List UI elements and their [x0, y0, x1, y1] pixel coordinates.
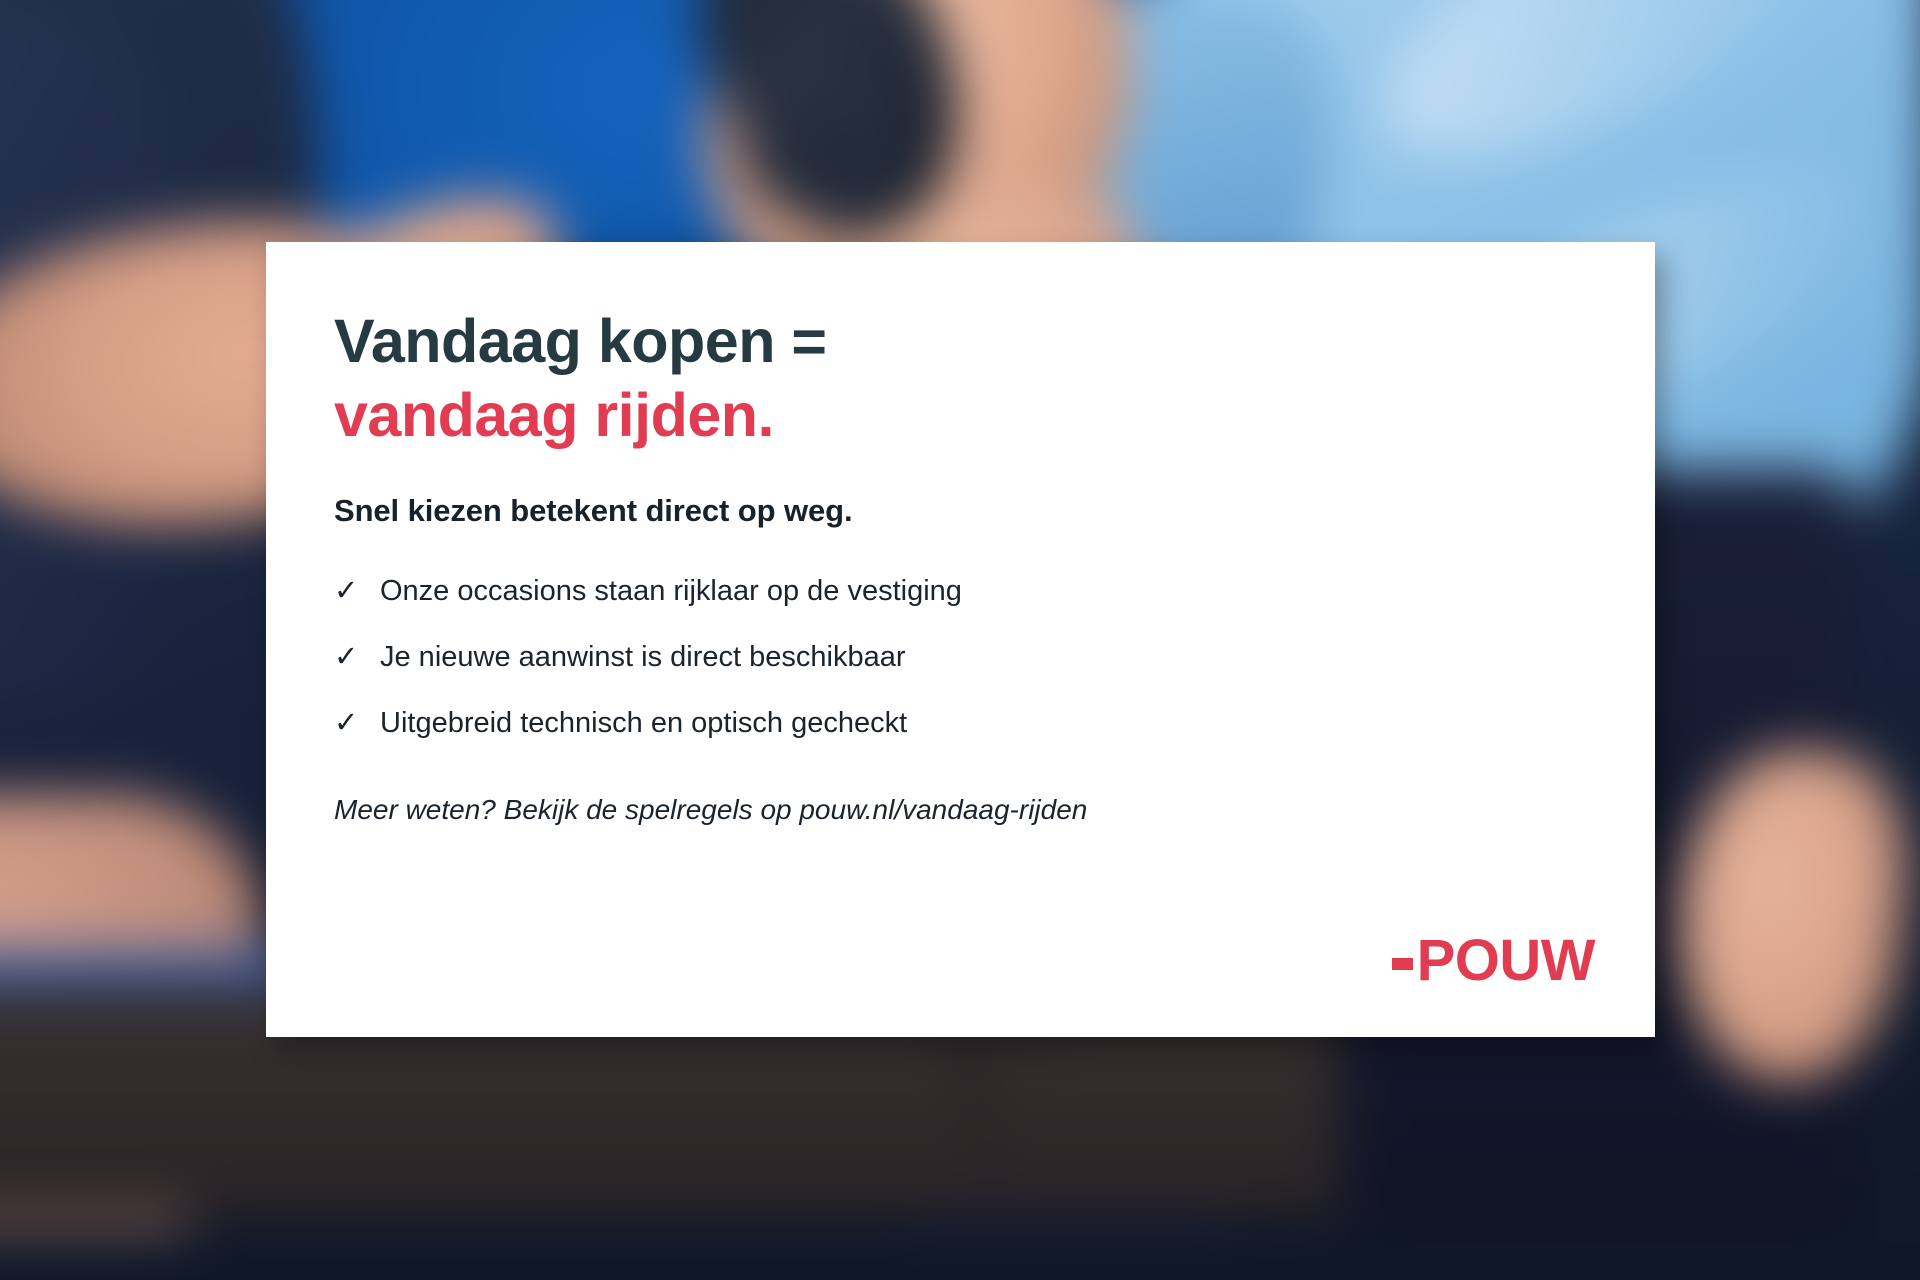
logo-wordmark: POUW — [1417, 932, 1595, 990]
footnote-link[interactable]: Meer weten? Bekijk de spelregels op pouw… — [334, 742, 1595, 826]
logo-dash-icon — [1392, 958, 1413, 970]
page-title: Vandaag kopen = vandaag rijden. — [334, 242, 1595, 453]
pouw-logo: POUW — [1392, 930, 1595, 992]
list-item: ✓ Onze occasions staan rijklaar op de ve… — [334, 573, 1595, 609]
subheadline: Snel kiezen betekent direct op weg. — [334, 453, 1595, 529]
list-item-label: Je nieuwe aanwinst is direct beschikbaar — [380, 639, 906, 675]
headline-line-1: Vandaag kopen = — [334, 307, 827, 375]
check-icon: ✓ — [334, 639, 380, 675]
promo-card: Vandaag kopen = vandaag rijden. Snel kie… — [266, 242, 1655, 1037]
check-icon: ✓ — [334, 573, 380, 609]
advertisement-stage: Vandaag kopen = vandaag rijden. Snel kie… — [0, 0, 1920, 1280]
list-item-label: Uitgebreid technisch en optisch gecheckt — [380, 705, 907, 741]
promo-card-content: Vandaag kopen = vandaag rijden. Snel kie… — [334, 242, 1595, 1037]
list-item: ✓ Je nieuwe aanwinst is direct beschikba… — [334, 639, 1595, 675]
list-item-label: Onze occasions staan rijklaar op de vest… — [380, 573, 962, 609]
check-icon: ✓ — [334, 705, 380, 741]
list-item: ✓ Uitgebreid technisch en optisch gechec… — [334, 705, 1595, 741]
benefit-list: ✓ Onze occasions staan rijklaar op de ve… — [334, 529, 1595, 742]
headline-line-2: vandaag rijden. — [334, 378, 1595, 452]
